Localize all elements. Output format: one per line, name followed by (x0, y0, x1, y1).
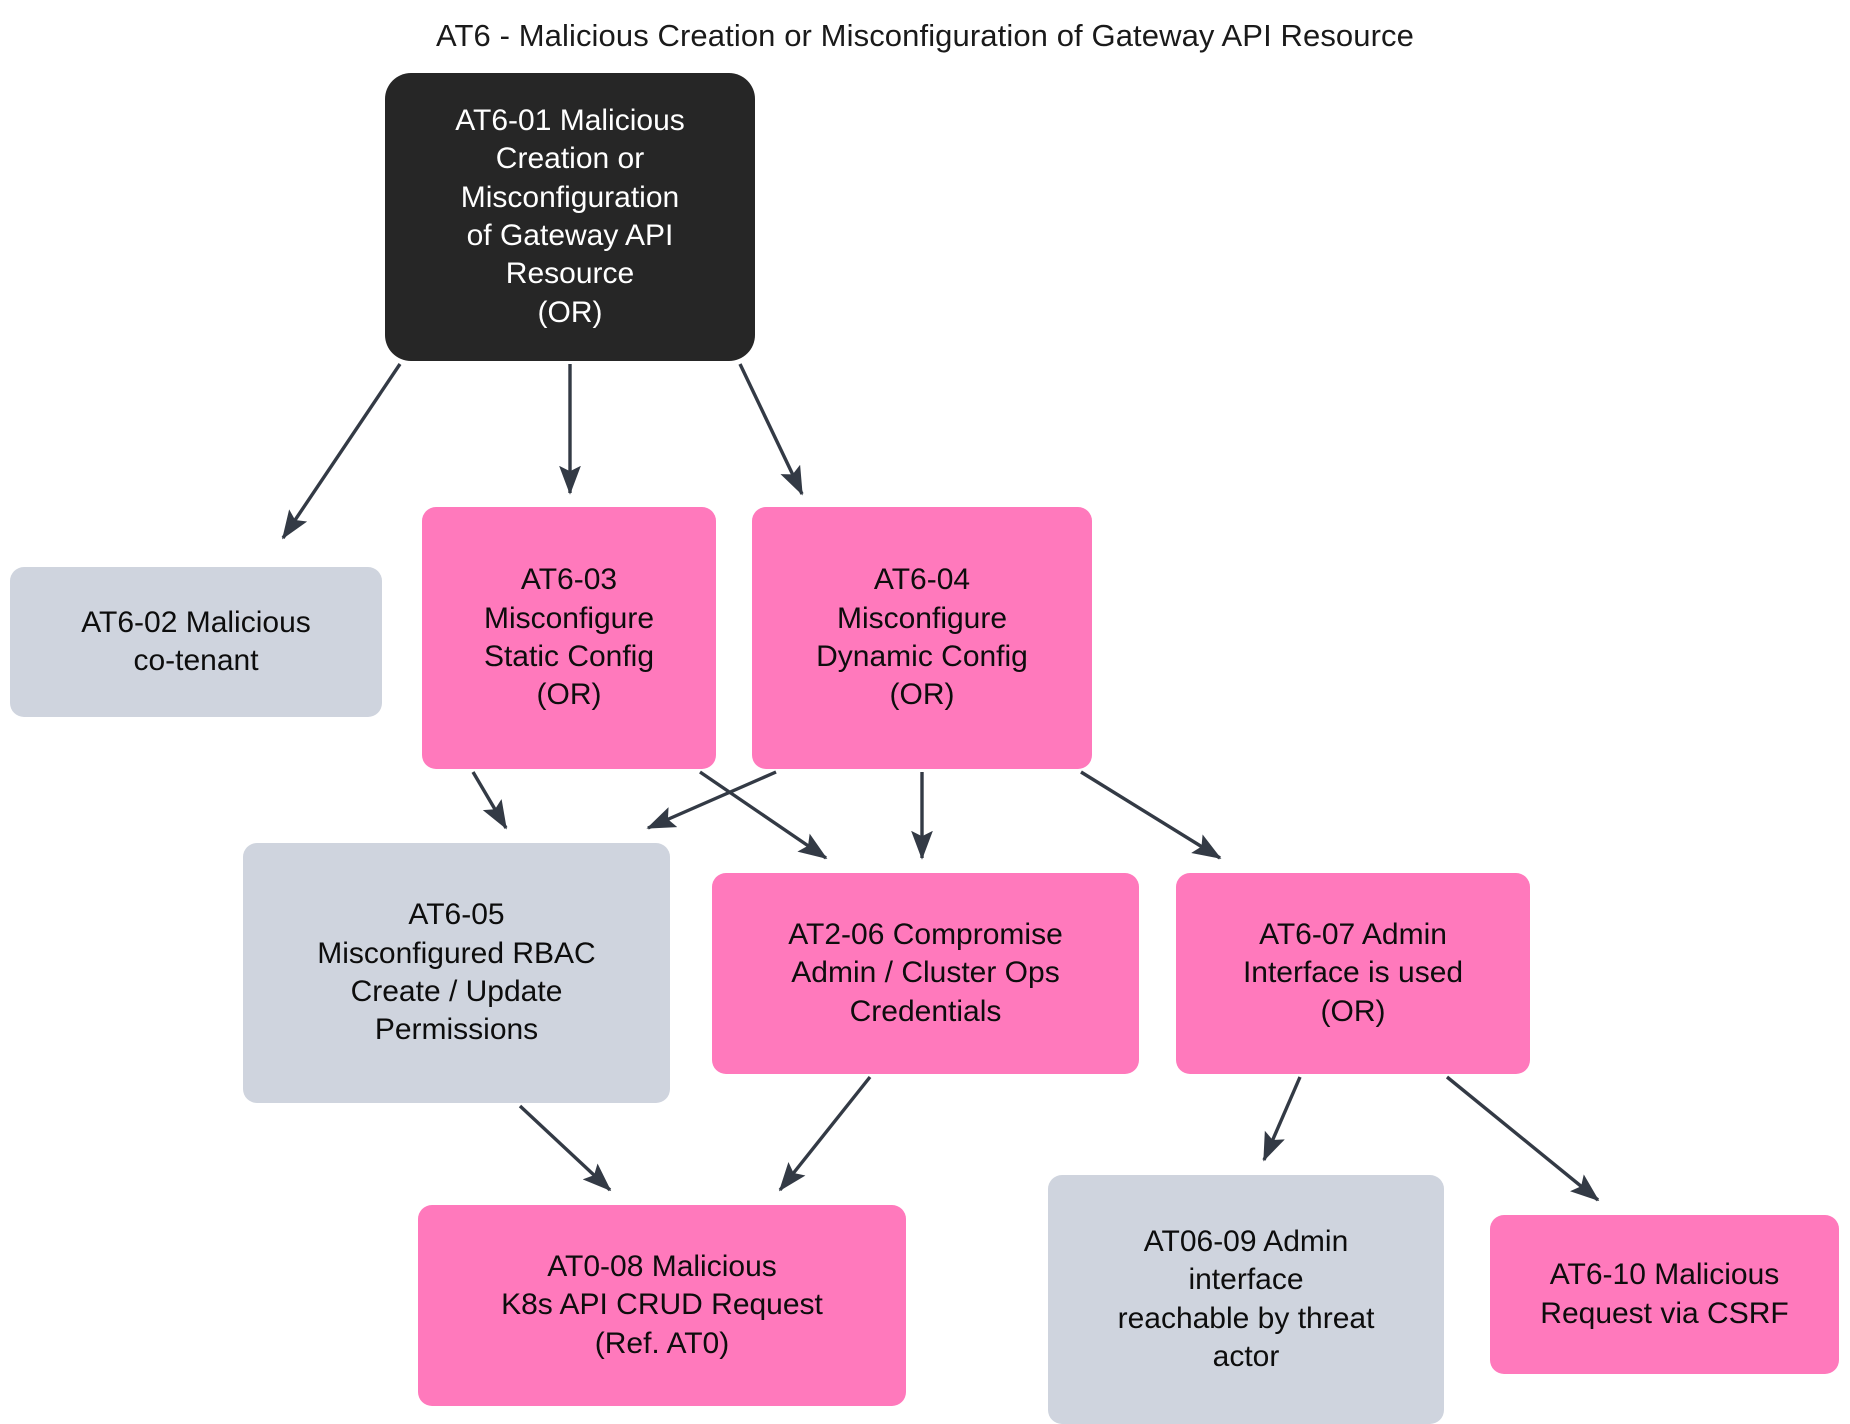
node-label: AT06-09 Admin interface reachable by thr… (1062, 1223, 1430, 1377)
node-label: AT6-02 Malicious co-tenant (24, 604, 368, 681)
edge-at6-03-to-at6-05 (473, 772, 506, 828)
node-at6-10[interactable]: AT6-10 Malicious Request via CSRF (1490, 1215, 1839, 1374)
attack-tree-canvas: AT6 - Malicious Creation or Misconfigura… (0, 0, 1850, 1424)
edge-at6-01-to-at6-04 (740, 364, 802, 494)
node-at6-05[interactable]: AT6-05 Misconfigured RBAC Create / Updat… (243, 843, 670, 1103)
node-at6-02[interactable]: AT6-02 Malicious co-tenant (10, 567, 382, 717)
node-label: AT2-06 Compromise Admin / Cluster Ops Cr… (726, 916, 1125, 1031)
node-label: AT6-04 Misconfigure Dynamic Config (OR) (766, 561, 1078, 715)
node-at0-08[interactable]: AT0-08 Malicious K8s API CRUD Request (R… (418, 1205, 906, 1406)
node-at2-06[interactable]: AT2-06 Compromise Admin / Cluster Ops Cr… (712, 873, 1139, 1074)
node-at06-09[interactable]: AT06-09 Admin interface reachable by thr… (1048, 1175, 1444, 1424)
node-at6-07[interactable]: AT6-07 Admin Interface is used (OR) (1176, 873, 1530, 1074)
edge-at6-01-to-at6-02 (283, 364, 400, 538)
node-label: AT6-05 Misconfigured RBAC Create / Updat… (257, 896, 656, 1050)
edge-at6-07-to-at6-10 (1447, 1077, 1598, 1200)
node-at6-01[interactable]: AT6-01 Malicious Creation or Misconfigur… (385, 73, 755, 361)
node-at6-04[interactable]: AT6-04 Misconfigure Dynamic Config (OR) (752, 507, 1092, 769)
edge-at6-05-to-at0-08 (520, 1106, 610, 1190)
node-label: AT6-07 Admin Interface is used (OR) (1190, 916, 1516, 1031)
node-at6-03[interactable]: AT6-03 Misconfigure Static Config (OR) (422, 507, 716, 769)
node-label: AT6-03 Misconfigure Static Config (OR) (436, 561, 702, 715)
node-label: AT6-01 Malicious Creation or Misconfigur… (399, 102, 741, 332)
edge-at6-03-to-at2-06 (700, 772, 826, 858)
node-label: AT0-08 Malicious K8s API CRUD Request (R… (432, 1248, 892, 1363)
diagram-title: AT6 - Malicious Creation or Misconfigura… (0, 18, 1850, 54)
edge-at6-04-to-at6-07 (1081, 772, 1220, 858)
edge-at6-04-to-at6-05 (648, 772, 776, 828)
edge-at6-07-to-at06-09 (1264, 1077, 1300, 1160)
node-label: AT6-10 Malicious Request via CSRF (1504, 1256, 1825, 1333)
edge-at2-06-to-at0-08 (780, 1077, 870, 1190)
